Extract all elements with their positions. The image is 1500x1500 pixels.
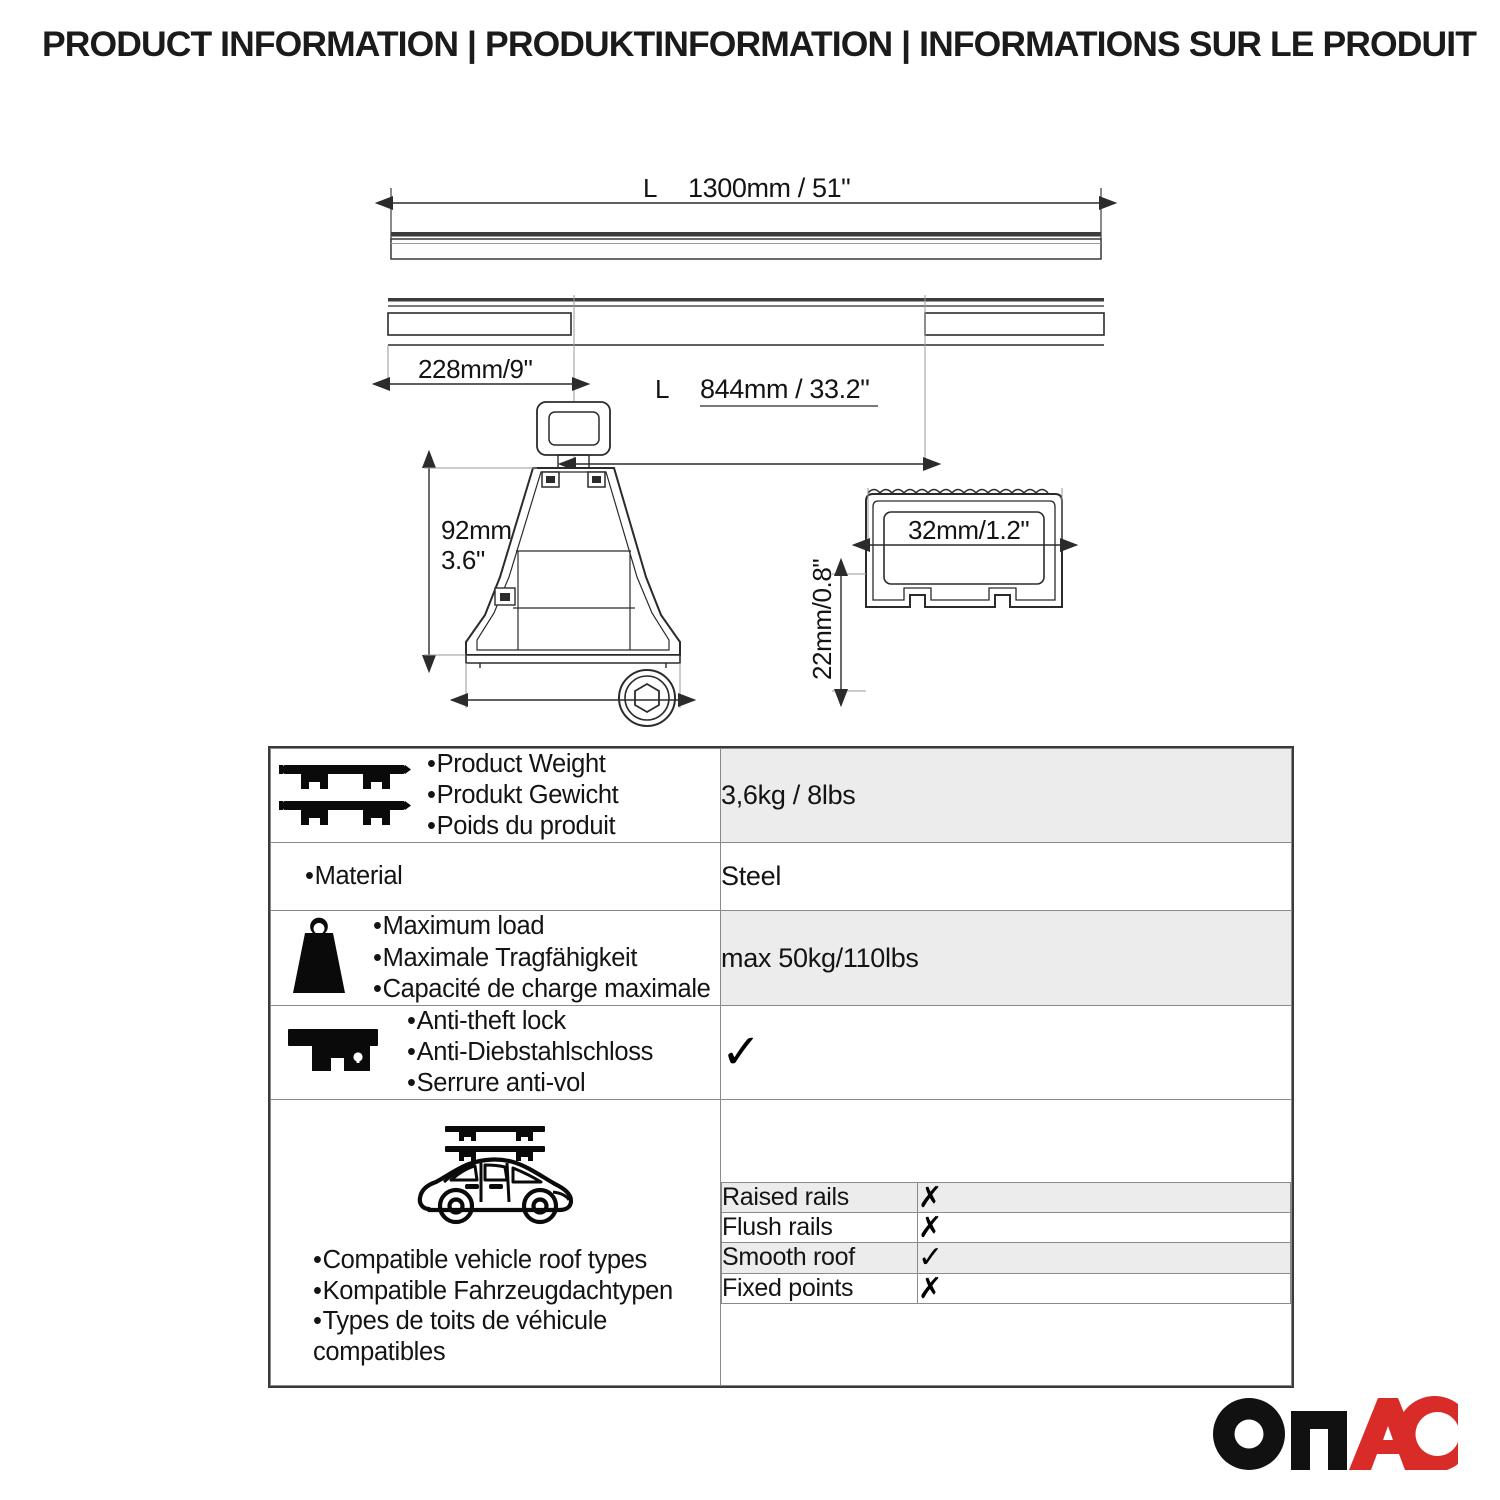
- dim-bar-length-value: 1300mm / 51": [688, 173, 850, 203]
- roof-types-sub-table: Raised rails ✗ Flush rails ✗: [721, 1182, 1291, 1304]
- roof-option-mark: ✓: [918, 1242, 1291, 1273]
- car-with-roof-rack-icon: [403, 1114, 589, 1241]
- omac-logo: [1212, 1394, 1458, 1472]
- label-line-de: Produkt Gewicht: [427, 780, 618, 811]
- dim-bar-length-symbol: L: [643, 173, 657, 203]
- roof-bar-top-view: [391, 232, 1101, 259]
- anti-theft-lock-label-cell: Anti-theft lock Anti-Diebstahlschloss Se…: [271, 1005, 721, 1099]
- material-labels: Material: [305, 861, 402, 892]
- anti-theft-lock-value: ✓: [721, 1005, 1292, 1099]
- roof-option-row: Flush rails ✗: [722, 1212, 1291, 1242]
- table-row-compatible-roof-types: Compatible vehicle roof types Kompatible…: [271, 1100, 1292, 1386]
- maximum-load-label-cell: Maximum load Maximale Tragfähigkeit Capa…: [271, 911, 721, 1005]
- roof-option-row: Smooth roof ✓: [722, 1242, 1291, 1273]
- roof-option-name: Raised rails: [722, 1182, 918, 1212]
- roof-option-mark: ✗: [918, 1212, 1291, 1242]
- roof-types-options-cell: Raised rails ✗ Flush rails ✗: [721, 1100, 1292, 1386]
- label-line-fr: Poids du produit: [427, 811, 618, 842]
- dim-foot-height-value-2: 3.6": [441, 545, 485, 575]
- label-line-de: Maximale Tragfähigkeit: [373, 943, 710, 974]
- dim-profile-height: [832, 574, 866, 691]
- check-icon: ✓: [721, 1024, 761, 1080]
- weight-icon: [271, 915, 367, 1001]
- roof-option-row: Fixed points ✗: [722, 1273, 1291, 1303]
- label-line-fr: Capacité de charge maximale: [373, 974, 710, 1005]
- dim-profile-width-value: 32mm/1.2": [908, 515, 1029, 545]
- bar-cross-section-view: [866, 490, 1062, 608]
- table-row-material: Material Steel: [271, 843, 1292, 911]
- label-line-fr: Types de toits de véhicule compatibles: [313, 1306, 703, 1367]
- label-line-de: Kompatible Fahrzeugdachtypen: [313, 1276, 703, 1307]
- label-line-en: Compatible vehicle roof types: [313, 1245, 703, 1276]
- product-weight-label-cell: Product Weight Produkt Gewicht Poids du …: [271, 749, 721, 843]
- material-value: Steel: [721, 843, 1292, 911]
- label-line-fr: Serrure anti-vol: [407, 1068, 653, 1099]
- dim-profile-height-value: 22mm/0.8": [807, 559, 837, 680]
- technical-drawing: L 1300mm / 51" 228mm/9" L 844mm / 33.2" …: [0, 80, 1500, 730]
- table-row-product-weight: Product Weight Produkt Gewicht Poids du …: [271, 749, 1292, 843]
- maximum-load-value: max 50kg/110lbs: [721, 911, 1292, 1005]
- cross-icon: ✗: [918, 1271, 942, 1305]
- cross-icon: ✗: [918, 1180, 942, 1214]
- roof-option-row: Raised rails ✗: [722, 1182, 1291, 1212]
- roof-option-mark: ✗: [918, 1182, 1291, 1212]
- dim-foot-offset-value: 228mm/9": [418, 354, 533, 384]
- table-row-maximum-load: Maximum load Maximale Tragfähigkeit Capa…: [271, 911, 1292, 1005]
- roof-option-mark: ✗: [918, 1273, 1291, 1303]
- roof-bars-icon: [271, 757, 421, 835]
- anti-theft-lock-labels: Anti-theft lock Anti-Diebstahlschloss Se…: [407, 1006, 653, 1099]
- material-label-cell: Material: [271, 843, 721, 911]
- product-information-sheet: PRODUCT INFORMATION | PRODUKTINFORMATION…: [0, 0, 1500, 1500]
- specification-table: Product Weight Produkt Gewicht Poids du …: [268, 746, 1294, 1388]
- dim-foot-height-value-1: 92mm: [441, 515, 512, 545]
- roof-types-label-cell: Compatible vehicle roof types Kompatible…: [271, 1100, 721, 1386]
- maximum-load-labels: Maximum load Maximale Tragfähigkeit Capa…: [373, 911, 710, 1004]
- roof-option-name: Flush rails: [722, 1212, 918, 1242]
- page-title: PRODUCT INFORMATION | PRODUKTINFORMATION…: [42, 24, 1462, 65]
- cross-icon: ✗: [918, 1210, 942, 1244]
- label-line-en: Anti-theft lock: [407, 1006, 653, 1037]
- label-line-en: Material: [305, 861, 402, 892]
- mount-foot-front-view: [466, 402, 680, 726]
- product-weight-value: 3,6kg / 8lbs: [721, 749, 1292, 843]
- roof-option-name: Smooth roof: [722, 1242, 918, 1273]
- label-line-de: Anti-Diebstahlschloss: [407, 1037, 653, 1068]
- roof-option-name: Fixed points: [722, 1273, 918, 1303]
- logo-letter-m: [1291, 1411, 1347, 1470]
- table-row-anti-theft-lock: Anti-theft lock Anti-Diebstahlschloss Se…: [271, 1005, 1292, 1099]
- dim-bar-spread-value: 844mm / 33.2": [700, 374, 869, 404]
- dim-bar-spread: [576, 406, 923, 464]
- label-line-en: Product Weight: [427, 749, 618, 780]
- lock-icon: [271, 1019, 401, 1085]
- dim-bar-spread-symbol: L: [655, 374, 669, 404]
- product-weight-labels: Product Weight Produkt Gewicht Poids du …: [427, 749, 618, 842]
- check-icon: ✓: [918, 1240, 943, 1275]
- label-line-en: Maximum load: [373, 911, 710, 942]
- roof-types-labels: Compatible vehicle roof types Kompatible…: [313, 1245, 703, 1367]
- logo-letter-o: [1213, 1398, 1285, 1470]
